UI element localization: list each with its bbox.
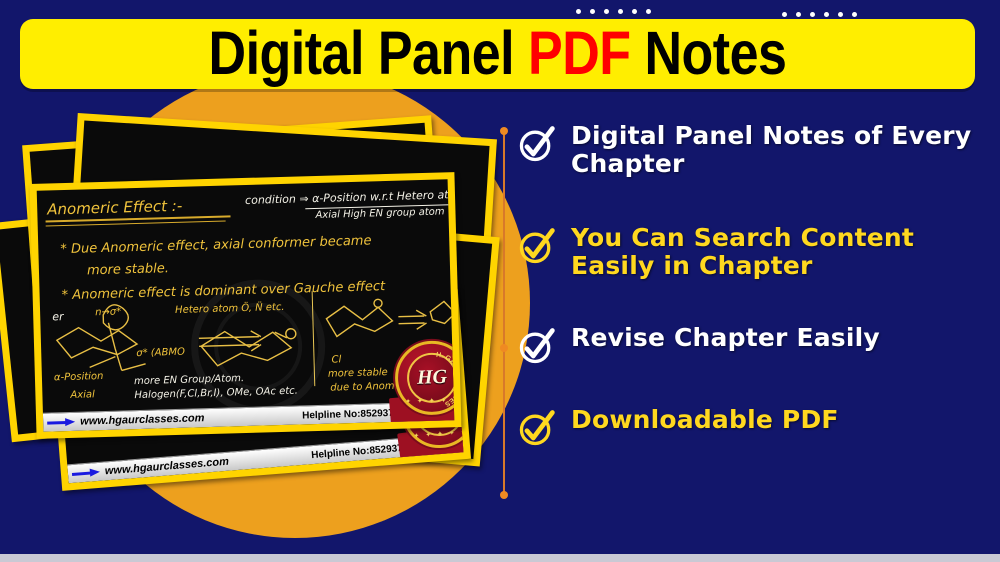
dot-icon	[838, 12, 843, 17]
dot-icon	[646, 9, 651, 14]
check-circle-icon	[516, 326, 556, 366]
feature-item-4[interactable]: Downloadable PDF	[516, 406, 996, 448]
check-circle-icon	[516, 226, 556, 266]
feature-label: Revise Chapter Easily	[571, 324, 880, 352]
dot-icon	[604, 9, 609, 14]
page-title: Digital Panel PDF Notes	[209, 23, 787, 84]
badge-stars: ✦ ✦ ✦ ✦ ✦	[399, 396, 455, 406]
title-highlight-pdf: PDF	[528, 20, 631, 88]
badge-monogram: HG	[398, 365, 455, 390]
timeline-line	[503, 130, 505, 496]
timeline-dot-middle	[500, 344, 508, 352]
arrow-right-icon	[47, 417, 77, 427]
notes-heading: Anomeric Effect :-	[47, 197, 182, 219]
dots-decoration-left	[576, 9, 651, 14]
notes-condition-sub: Axial High EN group atom	[315, 206, 444, 221]
dot-icon	[618, 9, 623, 14]
feature-label: You Can Search Content Easily in Chapter	[571, 224, 996, 280]
dot-icon	[782, 12, 787, 17]
timeline-dot-bottom	[500, 491, 508, 499]
title-part-2: Notes	[631, 20, 787, 88]
notes-line-2: more stable.	[87, 261, 169, 278]
footer-website: www.hgaurclasses.com	[80, 412, 205, 427]
blackboard-surface: Anomeric Effect :- condition ⇒ α-Positio…	[37, 179, 455, 431]
feature-label: Digital Panel Notes of Every Chapter	[571, 122, 996, 178]
check-circle-icon	[516, 124, 556, 164]
note-card-front: Anomeric Effect :- condition ⇒ α-Positio…	[30, 172, 462, 439]
feature-item-3[interactable]: Revise Chapter Easily	[516, 324, 996, 366]
logo-badge: H. GAUR CLASSES HG ✦ ✦ ✦ ✦ ✦	[394, 340, 454, 416]
footer-website: www.hgaurclasses.com	[104, 456, 229, 478]
bottom-strip	[0, 554, 1000, 562]
title-part-1: Digital Panel	[209, 20, 529, 88]
feature-item-2[interactable]: You Can Search Content Easily in Chapter	[516, 224, 996, 280]
dots-decoration-right	[782, 12, 857, 17]
chemistry-sketch-chair-1	[190, 303, 312, 391]
check-circle-icon	[516, 408, 556, 448]
dot-icon	[810, 12, 815, 17]
notes-card-stack: gmp. www.hgaurclasses.com Helpline No:85…	[0, 120, 500, 500]
feature-item-1[interactable]: Digital Panel Notes of Every Chapter	[516, 122, 996, 178]
dot-icon	[576, 9, 581, 14]
feature-label: Downloadable PDF	[571, 406, 839, 434]
dot-icon	[632, 9, 637, 14]
dot-icon	[796, 12, 801, 17]
notes-line-1: * Due Anomeric effect, axial conformer b…	[60, 233, 372, 257]
feature-list: Digital Panel Notes of Every Chapter You…	[516, 122, 996, 474]
timeline-dot-top	[500, 127, 508, 135]
dot-icon	[824, 12, 829, 17]
poster-canvas: Digital Panel PDF Notes gmp.	[0, 0, 1000, 562]
dot-icon	[590, 9, 595, 14]
dot-icon	[852, 12, 857, 17]
arrow-right-icon	[72, 467, 103, 478]
title-banner: Digital Panel PDF Notes	[20, 19, 975, 89]
